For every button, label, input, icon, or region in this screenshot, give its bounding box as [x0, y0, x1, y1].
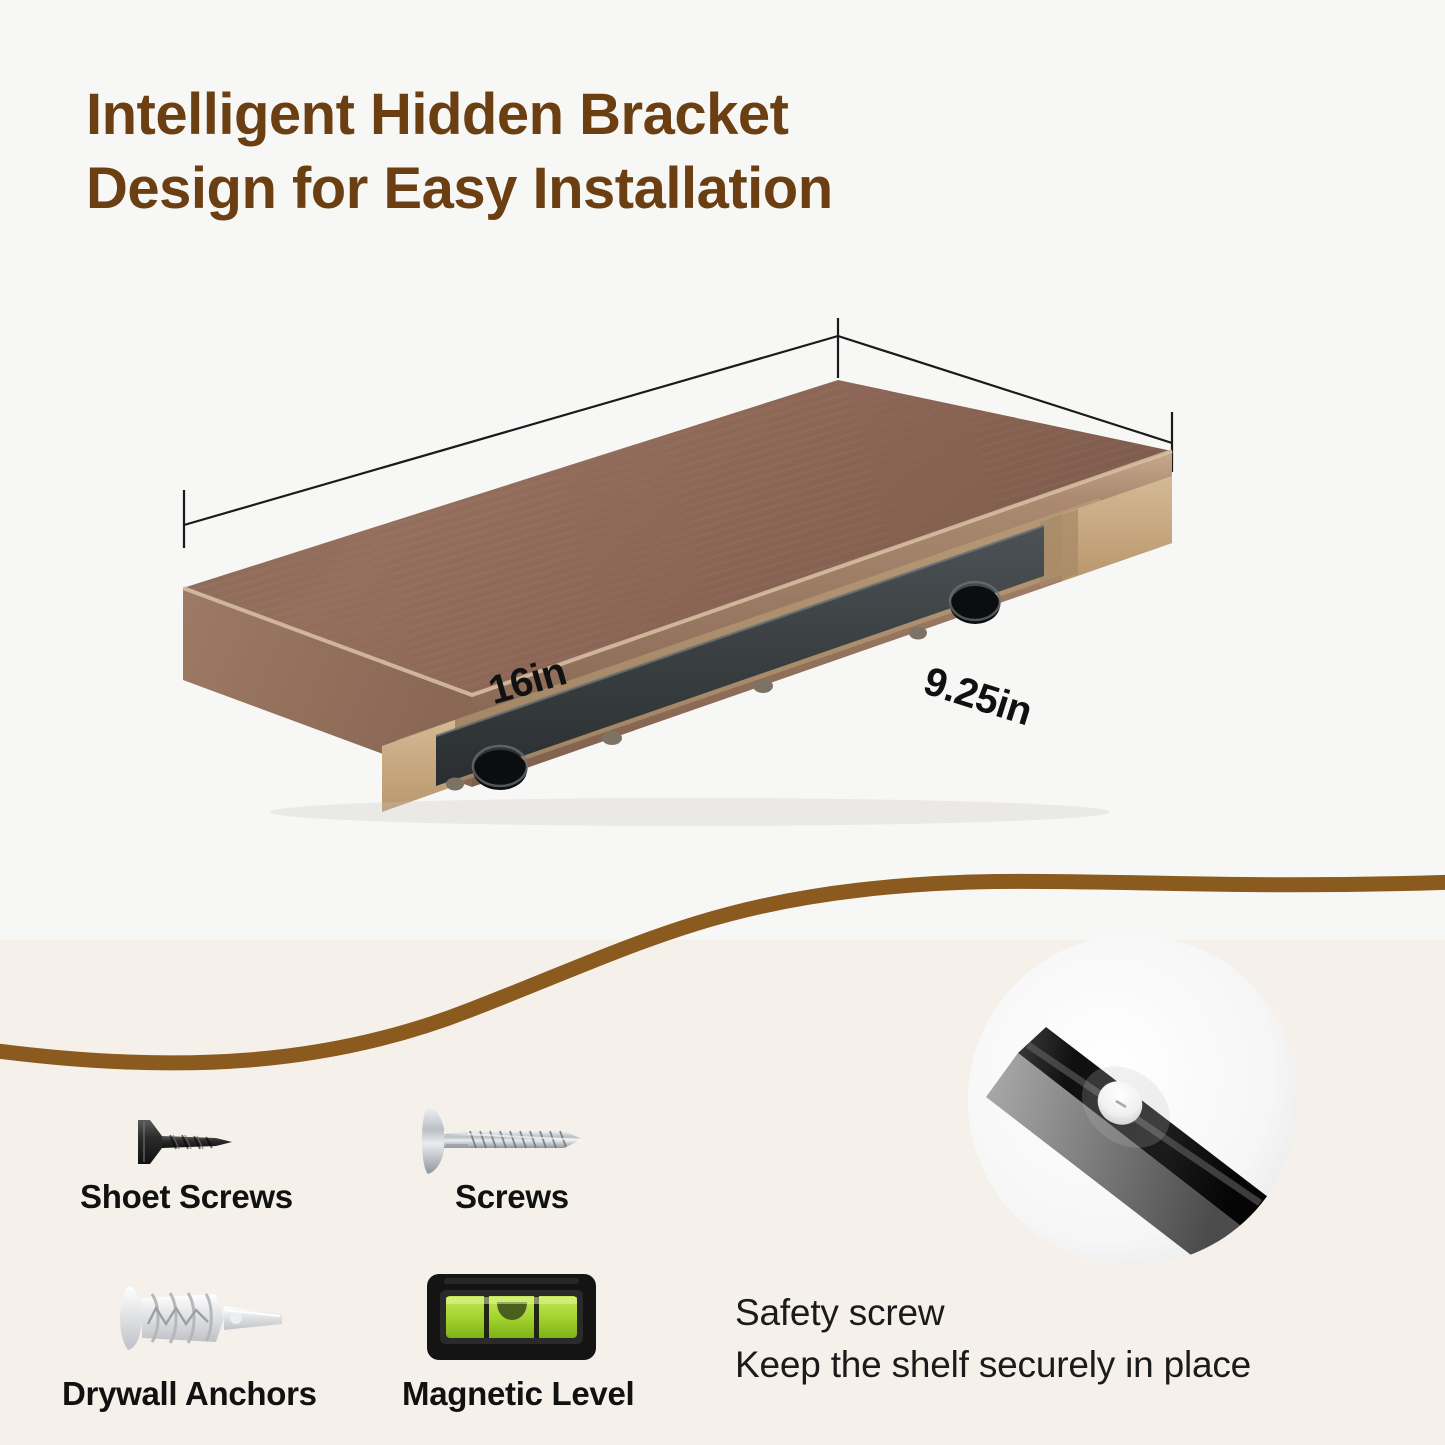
silver-screw-icon — [410, 1100, 595, 1180]
bracket-screw-hole-0 — [446, 778, 464, 791]
title-line-2: Design for Easy Installation — [86, 152, 1086, 226]
shelf-shadow — [270, 798, 1110, 826]
page-title: Intelligent Hidden Bracket Design for Ea… — [86, 78, 1086, 226]
drywall-anchor-icon — [112, 1272, 292, 1364]
product-illustration: 16in 9.25in — [0, 300, 1300, 890]
safety-screw-photo — [968, 935, 1298, 1265]
shelf-drawing — [0, 300, 1300, 890]
infographic-canvas: Intelligent Hidden Bracket Design for Ea… — [0, 0, 1445, 1445]
title-line-1: Intelligent Hidden Bracket — [86, 82, 788, 147]
bracket-keyhole-right — [950, 586, 1000, 624]
bracket-screw-hole-3 — [909, 627, 927, 640]
accessory-label-magnetic-level: Magnetic Level — [402, 1375, 634, 1413]
bracket-screw-hole-2 — [753, 679, 773, 693]
magnetic-level-icon — [424, 1268, 599, 1366]
accessory-label-shoet-screws: Shoet Screws — [80, 1178, 293, 1216]
accessory-label-screws: Screws — [455, 1178, 569, 1216]
bracket-screw-hole-1 — [602, 731, 622, 745]
bracket-keyhole-left — [473, 750, 527, 790]
accessory-label-drywall-anchors: Drywall Anchors — [62, 1375, 317, 1413]
black-screw-icon — [128, 1108, 248, 1176]
safety-callout: Safety screw Keep the shelf securely in … — [735, 1287, 1251, 1391]
safety-subtitle: Keep the shelf securely in place — [735, 1339, 1251, 1391]
shelf-mdf-notch — [1040, 509, 1078, 587]
safety-title: Safety screw — [735, 1287, 1251, 1339]
